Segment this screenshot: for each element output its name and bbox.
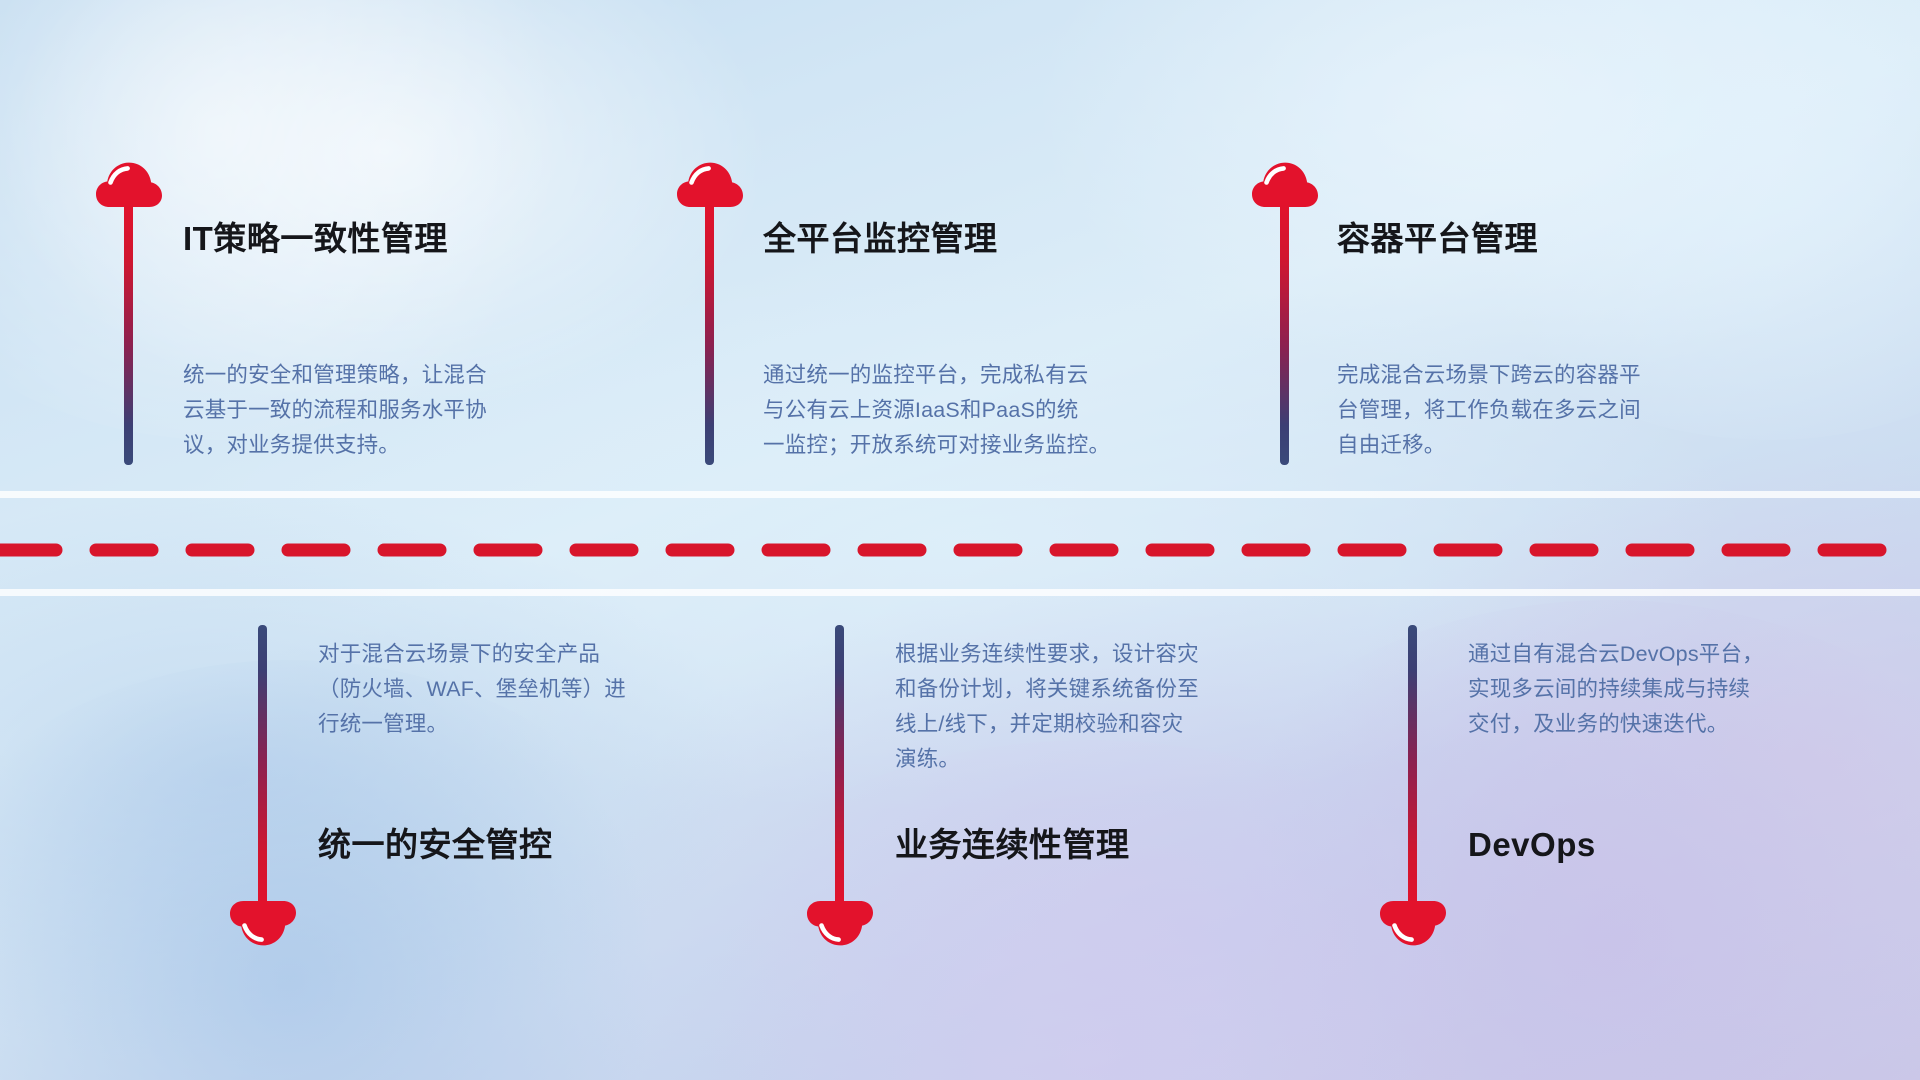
card-title: 业务连续性管理: [895, 828, 1130, 861]
card-body: 通过自有混合云DevOps平台， 实现多云间的持续集成与持续 交付，及业务的快速…: [1468, 637, 1898, 742]
divider-line-upper: [0, 491, 1920, 498]
connector-line: [835, 625, 844, 910]
card-title: IT策略一致性管理: [183, 222, 448, 255]
card-title: DevOps: [1468, 828, 1596, 861]
cloud-icon: [807, 900, 873, 946]
infographic-canvas: IT策略一致性管理 统一的安全和管理策略，让混合 云基于一致的流程和服务水平协 …: [0, 0, 1920, 1080]
card-body: 对于混合云场景下的安全产品 （防火墙、WAF、堡垒机等）进 行统一管理。: [318, 637, 758, 742]
connector-line: [124, 200, 133, 465]
connector-line: [705, 200, 714, 465]
card-title: 全平台监控管理: [763, 222, 998, 255]
connector-line: [1280, 200, 1289, 465]
card-title: 统一的安全管控: [318, 828, 553, 861]
divider-dashed-line: [0, 542, 1920, 558]
cloud-icon: [230, 900, 296, 946]
card-body: 根据业务连续性要求，设计容灾 和备份计划，将关键系统备份至 线上/线下，并定期校…: [895, 637, 1335, 777]
connector-line: [258, 625, 267, 910]
card-body: 统一的安全和管理策略，让混合 云基于一致的流程和服务水平协 议，对业务提供支持。: [183, 358, 613, 463]
card-body: 完成混合云场景下跨云的容器平 台管理，将工作负载在多云之间 自由迁移。: [1337, 358, 1767, 463]
card-body: 通过统一的监控平台，完成私有云 与公有云上资源IaaS和PaaS的统 一监控；开…: [763, 358, 1213, 463]
divider-line-lower: [0, 589, 1920, 596]
card-title: 容器平台管理: [1337, 222, 1538, 255]
connector-line: [1408, 625, 1417, 910]
cloud-icon: [1380, 900, 1446, 946]
